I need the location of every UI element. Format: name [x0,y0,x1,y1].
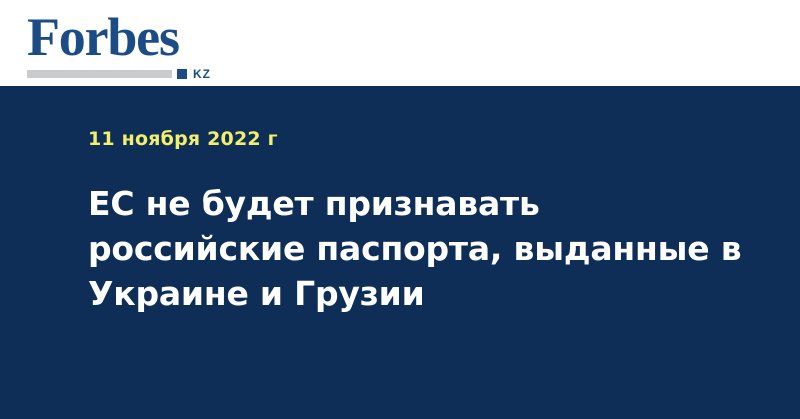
article-share-card: Forbes KZ 11 ноября 2022 г ЕС не будет п… [0,0,800,419]
site-header: Forbes KZ [0,0,800,86]
headline-line-3: Украине и Грузии [88,271,748,316]
article-date: 11 ноября 2022 г [88,128,278,150]
brand-edition-code: KZ [193,68,211,80]
brand-square-icon [177,69,187,79]
headline-line-1: ЕС не будет признавать [88,181,748,226]
headline-line-2: российские паспорта, выданные в [88,226,748,271]
forbes-kz-logo[interactable]: Forbes KZ [27,10,237,78]
article-headline: ЕС не будет признавать российские паспор… [88,181,748,316]
brand-rule-icon [27,70,172,78]
brand-wordmark: Forbes [27,10,237,64]
brand-underrow: KZ [27,68,225,80]
article-panel: 11 ноября 2022 г ЕС не будет признавать … [0,86,800,419]
